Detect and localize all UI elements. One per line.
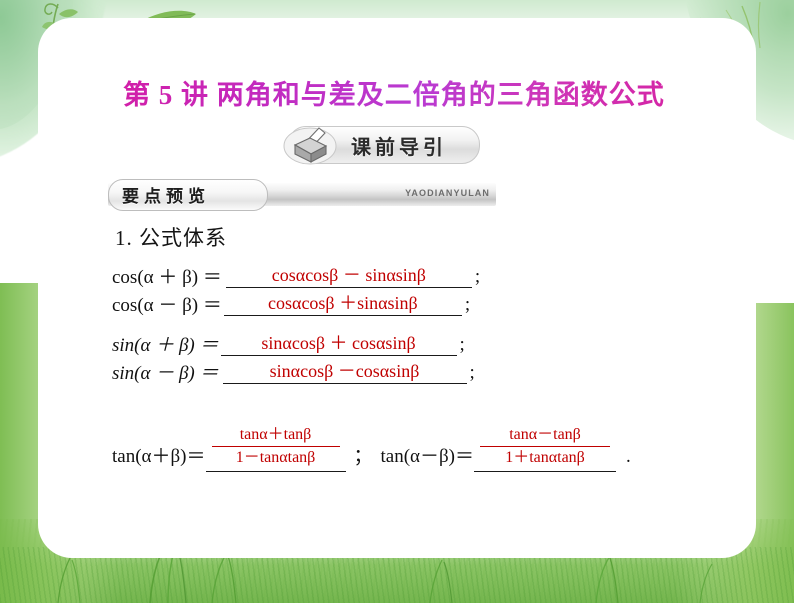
formula-lhs: cos(α ＋ β) ＝ [112,268,222,288]
banner-pinyin: YAODIANYULAN [405,188,490,198]
guide-pill[interactable]: 课前导引 [288,126,480,164]
tan-diff-fraction[interactable]: tanα－tanβ 1＋tanαtanβ [474,425,616,472]
formula-lhs: cos(α － β) ＝ [112,296,222,316]
tan-sum-lhs: tan(α＋β)＝ [112,441,206,472]
tan-sum-fraction[interactable]: tanα＋tanβ 1－tanαtanβ [206,425,346,472]
formula-row: sin(α ＋ β) ＝ sinαcosβ ＋ cosαsinβ ; [112,334,480,356]
section-banner: 要点预览 YAODIANYULAN [108,179,496,209]
tan-trailing-period: . [616,446,631,472]
formula-trailing: ; [467,362,475,384]
formula-lhs: sin(α － β) ＝ [112,364,219,384]
tan-sum-numerator: tanα＋tanβ [212,425,340,447]
tan-separator: ； [346,441,381,472]
tan-sum-denominator: 1－tanαtanβ [212,447,340,470]
book-pencil-icon [283,123,339,167]
section-label: 1. 公式体系 [115,222,227,252]
tangent-formula-row: tan(α＋β)＝ tanα＋tanβ 1－tanαtanβ ； tan(α－β… [112,425,752,472]
page-title: 第 5 讲 两角和与差及二倍角的三角函数公式 [123,73,665,112]
formula-trailing: ; [457,334,465,356]
tan-diff-denominator: 1＋tanαtanβ [480,447,610,470]
formula-row: cos(α ＋ β) ＝ cosαcosβ － sinαsinβ ; [112,266,480,288]
formula-row: sin(α － β) ＝ sinαcosβ －cosαsinβ ; [112,362,480,384]
formula-row: cos(α － β) ＝ cosαcosβ ＋sinαsinβ ; [112,294,480,316]
formula-lhs: sin(α ＋ β) ＝ [112,336,219,356]
slide-canvas: 第 5 讲 两角和与差及二倍角的三角函数公式 课前导引 要点预览 YAODIAN… [0,0,794,603]
formula-answer-blank[interactable]: cosαcosβ － sinαsinβ [226,266,472,288]
banner-label: 要点预览 [122,182,210,207]
guide-pill-label: 课前导引 [351,131,447,160]
formula-trailing: ; [462,294,470,316]
formula-answer-blank[interactable]: sinαcosβ －cosαsinβ [223,362,467,384]
formula-answer-blank[interactable]: sinαcosβ ＋ cosαsinβ [221,334,457,356]
formula-answer-blank[interactable]: cosαcosβ ＋sinαsinβ [224,294,462,316]
formula-list: cos(α ＋ β) ＝ cosαcosβ － sinαsinβ ; cos(α… [112,266,480,384]
tan-diff-lhs: tan(α－β)＝ [381,441,475,472]
formula-trailing: ; [472,266,480,288]
tan-diff-numerator: tanα－tanβ [480,425,610,447]
